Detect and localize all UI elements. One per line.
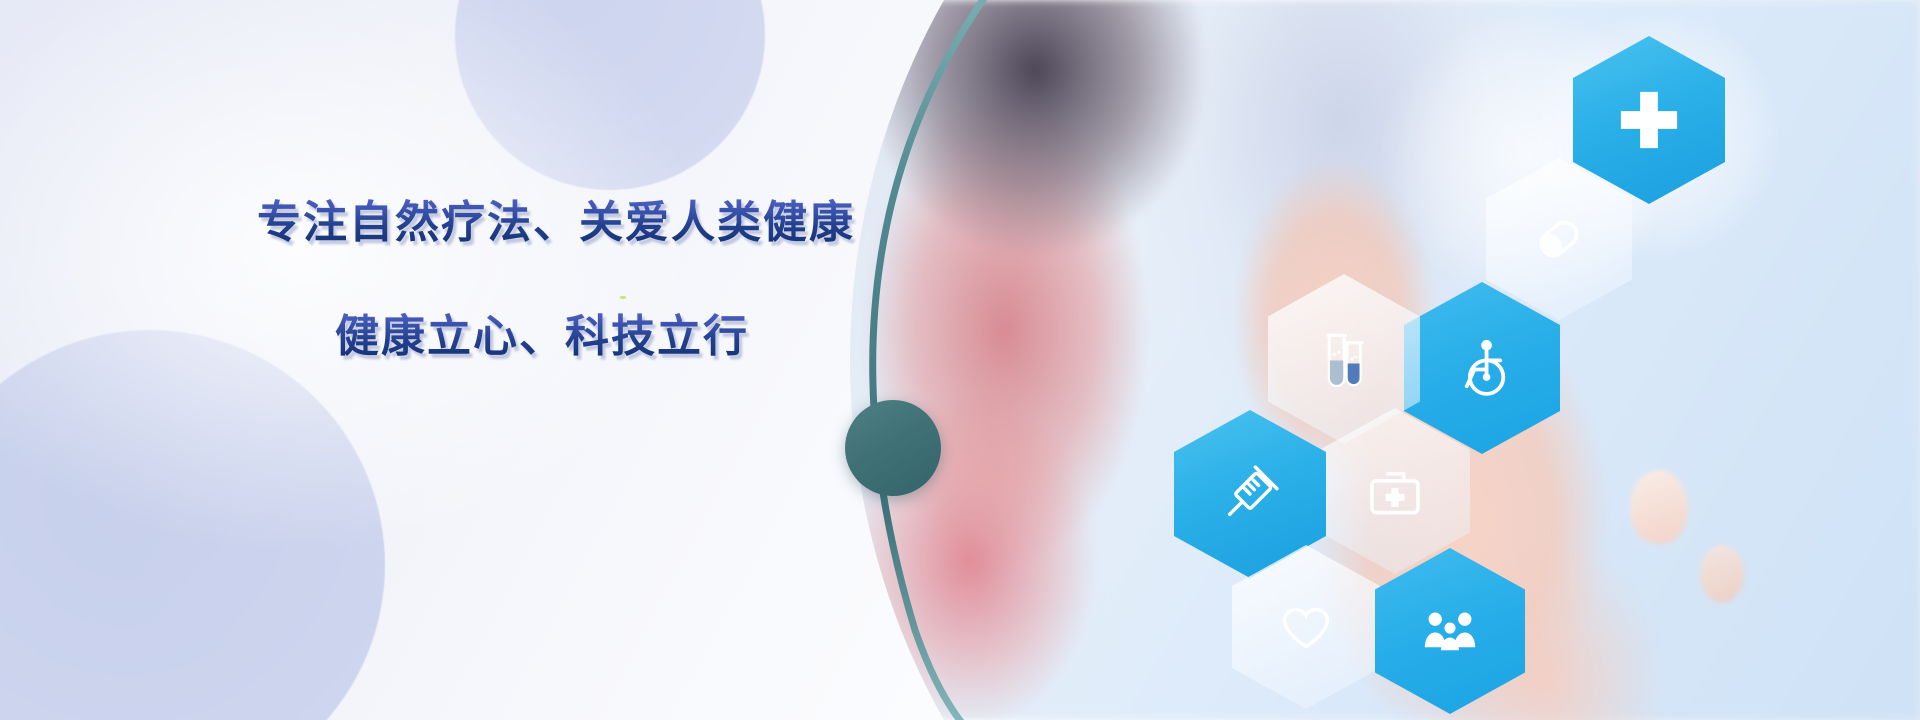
- fingernail-highlight: [1630, 470, 1688, 544]
- headline-secondary: 健康立心、科技立行: [335, 300, 749, 364]
- fingernail-highlight: [1700, 545, 1744, 603]
- touch-glow-icon: [1380, 10, 1680, 300]
- headline-primary: 专注自然疗法、关爱人类健康: [257, 186, 855, 250]
- headline-block: 专注自然疗法、关爱人类健康 健康立心、科技立行: [0, 0, 900, 720]
- hero-banner: 专注自然疗法、关爱人类健康 健康立心、科技立行: [0, 0, 1920, 720]
